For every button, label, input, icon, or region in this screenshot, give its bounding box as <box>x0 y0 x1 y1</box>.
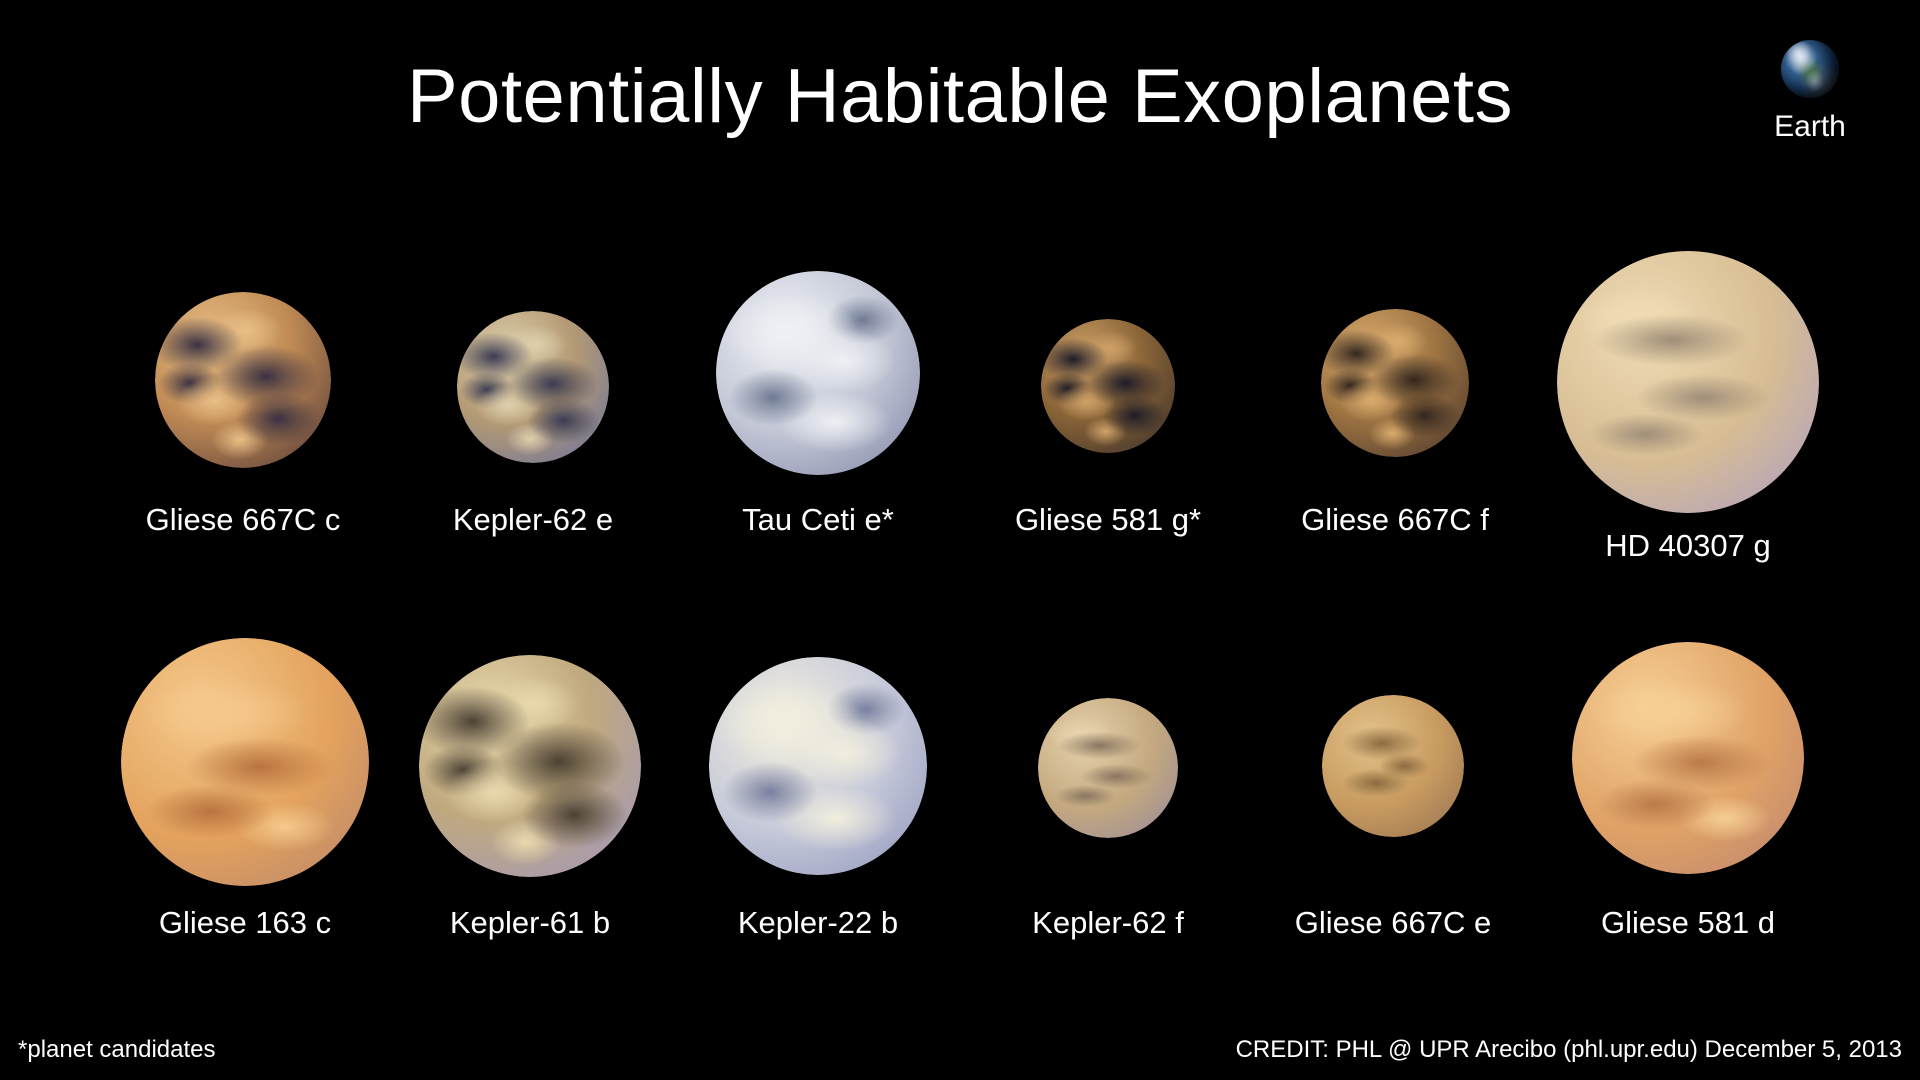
earth-reference: Earth <box>1740 40 1880 144</box>
planet-label: HD 40307 g <box>1488 528 1888 564</box>
planet-disc <box>1041 319 1175 453</box>
planet-disc <box>716 271 920 475</box>
planet-label: Gliese 581 d <box>1488 905 1888 941</box>
page-title: Potentially Habitable Exoplanets <box>0 52 1920 142</box>
planet-disc <box>419 655 641 877</box>
planet-surface-texture <box>709 657 927 875</box>
earth-globe-icon <box>1781 40 1839 98</box>
planet-disc <box>155 292 331 468</box>
planet-surface-texture <box>1557 251 1819 513</box>
planet-disc <box>1038 698 1178 838</box>
planet-surface-texture <box>1572 642 1804 874</box>
planet-disc <box>121 638 369 886</box>
planet-disc <box>1572 642 1804 874</box>
planet-surface-texture <box>419 655 641 877</box>
planet-disc <box>709 657 927 875</box>
planet-disc <box>1321 309 1469 457</box>
planet-surface-texture <box>716 271 920 475</box>
planet-surface-texture <box>155 292 331 468</box>
footnote: *planet candidates <box>18 1036 215 1064</box>
planet-surface-texture <box>1322 695 1464 837</box>
credit-line: CREDIT: PHL @ UPR Arecibo (phl.upr.edu) … <box>1236 1036 1902 1064</box>
earth-label: Earth <box>1740 110 1880 144</box>
planet-disc <box>457 311 609 463</box>
infographic-canvas: Potentially Habitable Exoplanets Earth G… <box>0 0 1920 1080</box>
planet-disc <box>1322 695 1464 837</box>
planet-disc <box>1557 251 1819 513</box>
planet-surface-texture <box>1321 309 1469 457</box>
planet-surface-texture <box>121 638 369 886</box>
planet-surface-texture <box>457 311 609 463</box>
planet-surface-texture <box>1038 698 1178 838</box>
planet-surface-texture <box>1041 319 1175 453</box>
